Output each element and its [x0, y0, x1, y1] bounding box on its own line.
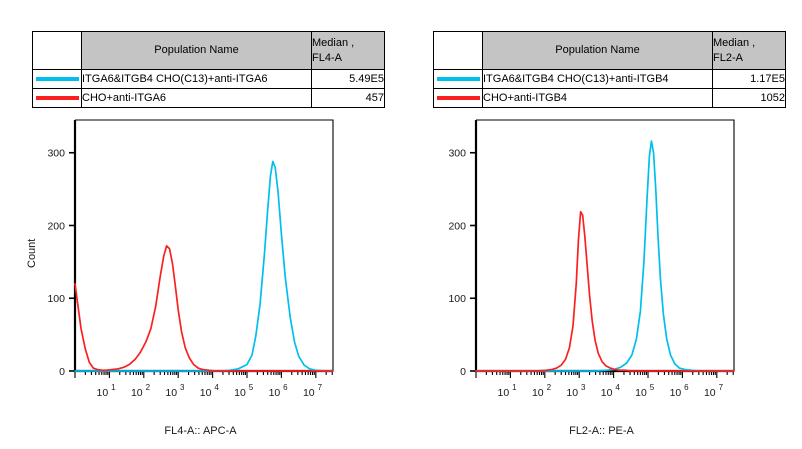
x-axis-label: FL2-A:: PE-A: [401, 425, 802, 437]
svg-text:300: 300: [448, 148, 466, 160]
svg-text:2: 2: [547, 383, 552, 392]
svg-text:4: 4: [214, 383, 219, 392]
svg-text:10: 10: [165, 387, 177, 399]
svg-text:4: 4: [615, 383, 620, 392]
svg-text:7: 7: [719, 383, 724, 392]
panel-fl4-apc: Population Name Median , FL4-A ITGA6&ITG…: [0, 0, 401, 449]
svg-text:3: 3: [180, 383, 185, 392]
y-axis-label: Count: [26, 239, 38, 268]
svg-text:5: 5: [249, 383, 254, 392]
svg-text:0: 0: [460, 366, 466, 378]
svg-text:3: 3: [581, 383, 586, 392]
svg-text:0: 0: [59, 366, 65, 378]
svg-text:1: 1: [111, 383, 116, 392]
svg-text:6: 6: [283, 383, 288, 392]
svg-text:7: 7: [318, 383, 323, 392]
svg-text:10: 10: [566, 387, 578, 399]
x-axis-label: FL4-A:: APC-A: [0, 425, 401, 437]
panel-fl2-pe: Population Name Median , FL2-A ITGA6&ITG…: [401, 0, 802, 449]
svg-text:300: 300: [47, 148, 65, 160]
svg-text:10: 10: [532, 387, 544, 399]
svg-text:10: 10: [97, 387, 109, 399]
svg-text:10: 10: [498, 387, 510, 399]
svg-text:100: 100: [448, 293, 466, 305]
svg-text:10: 10: [670, 387, 682, 399]
svg-text:10: 10: [234, 387, 246, 399]
histogram-plot-left: 0100200300101102103104105106107 Count FL…: [0, 0, 401, 449]
svg-text:100: 100: [47, 293, 65, 305]
svg-text:200: 200: [448, 220, 466, 232]
histogram-svg-left: 0100200300101102103104105106107: [0, 0, 401, 449]
svg-text:2: 2: [146, 383, 151, 392]
histogram-svg-right: 0100200300101102103104105106107: [401, 0, 802, 449]
svg-text:10: 10: [601, 387, 613, 399]
svg-text:10: 10: [303, 387, 315, 399]
svg-text:10: 10: [131, 387, 143, 399]
histogram-plot-right: 0100200300101102103104105106107 Count FL…: [401, 0, 802, 449]
svg-text:10: 10: [635, 387, 647, 399]
svg-text:1: 1: [512, 383, 517, 392]
svg-text:10: 10: [269, 387, 281, 399]
svg-text:6: 6: [684, 383, 689, 392]
svg-text:200: 200: [47, 220, 65, 232]
svg-text:5: 5: [650, 383, 655, 392]
svg-text:10: 10: [200, 387, 212, 399]
svg-text:10: 10: [704, 387, 716, 399]
